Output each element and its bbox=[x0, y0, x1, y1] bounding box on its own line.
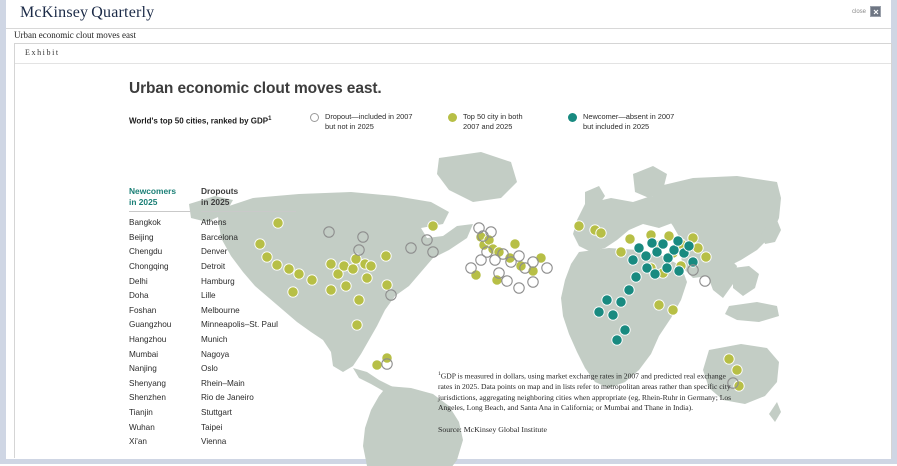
map-dot-top50 bbox=[352, 320, 362, 330]
list-item: Delhi bbox=[129, 275, 201, 290]
map-dot-top50 bbox=[596, 228, 606, 238]
map-dot-newcomer bbox=[628, 255, 638, 265]
map-dot-top50 bbox=[536, 253, 546, 263]
map-dot-top50 bbox=[510, 239, 520, 249]
footnote: 1GDP is measured in dollars, using marke… bbox=[438, 369, 738, 414]
dropout-marker-icon bbox=[310, 113, 319, 122]
map-dot-top50 bbox=[326, 259, 336, 269]
list-item: Taipei bbox=[201, 421, 311, 436]
list-item: Rhein–Main bbox=[201, 377, 311, 392]
list-item: Vienna bbox=[201, 435, 311, 450]
legend-label-newcomer: Newcomer—absent in 2007 but included in … bbox=[583, 112, 674, 131]
map-dot-top50 bbox=[382, 353, 392, 363]
brand-logo[interactable]: McKinseyQuarterly bbox=[20, 4, 154, 22]
exhibit-divider bbox=[15, 63, 891, 64]
map-dot-dropout bbox=[466, 263, 476, 273]
list-item: Denver bbox=[201, 245, 311, 260]
masthead: McKinseyQuarterly close bbox=[6, 0, 891, 29]
list-item: Shenyang bbox=[129, 377, 201, 392]
exhibit-subhead: World's top 50 cities, ranked by GDP1 bbox=[129, 116, 271, 126]
source-line: Source: McKinsey Global Institute bbox=[438, 425, 547, 434]
map-dot-dropout bbox=[474, 223, 484, 233]
map-dot-top50 bbox=[348, 264, 358, 274]
map-dot-dropout bbox=[514, 251, 524, 261]
map-dot-newcomer bbox=[641, 251, 651, 261]
map-dot-top50 bbox=[326, 285, 336, 295]
map-dot-newcomer bbox=[602, 295, 612, 305]
map-dot-top50 bbox=[362, 273, 372, 283]
subhead-text: World's top 50 cities, ranked by GDP bbox=[129, 117, 268, 126]
map-dot-dropout bbox=[514, 283, 524, 293]
list-dropouts: Dropouts in 2025 AthensBarcelonaDenverDe… bbox=[201, 186, 311, 450]
article-title: Urban economic clout moves east bbox=[14, 30, 136, 40]
brand-mckinsey: McKinsey bbox=[20, 4, 88, 21]
close-label: close bbox=[852, 9, 866, 15]
list-item: Oslo bbox=[201, 362, 311, 377]
brand-quarterly: Quarterly bbox=[91, 4, 154, 21]
list-items-dropouts: AthensBarcelonaDenverDetroitHamburgLille… bbox=[201, 216, 311, 450]
list-item: Stuttgart bbox=[201, 406, 311, 421]
list-rule-dropouts bbox=[201, 211, 296, 212]
legend-item-dropout: Dropout—included in 2007 but not in 2025 bbox=[310, 112, 413, 131]
list-item: Hamburg bbox=[201, 275, 311, 290]
legend-item-newcomer: Newcomer—absent in 2007 but included in … bbox=[568, 112, 674, 131]
list-item: Foshan bbox=[129, 304, 201, 319]
map-dot-top50 bbox=[382, 280, 392, 290]
list-item: Guangzhou bbox=[129, 318, 201, 333]
list-item: Athens bbox=[201, 216, 311, 231]
map-dot-dropout bbox=[700, 276, 710, 286]
map-dot-newcomer bbox=[658, 239, 668, 249]
newcomer-marker-icon bbox=[568, 113, 577, 122]
list-item: Detroit bbox=[201, 260, 311, 275]
list-item: Munich bbox=[201, 333, 311, 348]
map-dot-dropout bbox=[502, 276, 512, 286]
list-item: Shenzhen bbox=[129, 391, 201, 406]
list-item: Chengdu bbox=[129, 245, 201, 260]
map-dot-top50 bbox=[381, 251, 391, 261]
map-dot-newcomer bbox=[616, 297, 626, 307]
map-dot-newcomer bbox=[631, 272, 641, 282]
map-dot-newcomer bbox=[594, 307, 604, 317]
map-dot-dropout bbox=[542, 263, 552, 273]
list-newcomers: Newcomers in 2025 BangkokBeijingChengduC… bbox=[129, 186, 201, 450]
map-dot-newcomer bbox=[620, 325, 630, 335]
exhibit-card: Exhibit Urban economic clout moves east.… bbox=[14, 43, 892, 458]
map-dot-newcomer bbox=[662, 263, 672, 273]
map-dot-top50 bbox=[701, 252, 711, 262]
list-item: Tianjin bbox=[129, 406, 201, 421]
window-frame-left bbox=[0, 0, 6, 464]
footnote-text: GDP is measured in dollars, using market… bbox=[438, 372, 731, 413]
close-control[interactable]: close bbox=[852, 6, 881, 17]
map-dot-top50 bbox=[372, 360, 382, 370]
map-dot-top50 bbox=[366, 261, 376, 271]
map-dot-newcomer bbox=[624, 285, 634, 295]
map-dot-top50 bbox=[724, 354, 734, 364]
exhibit-label: Exhibit bbox=[25, 48, 60, 57]
list-item: Wuhan bbox=[129, 421, 201, 436]
list-item: Hangzhou bbox=[129, 333, 201, 348]
list-heading-newcomers: Newcomers in 2025 bbox=[129, 186, 201, 207]
article-title-strip: Urban economic clout moves east bbox=[6, 29, 891, 43]
list-item: Melbourne bbox=[201, 304, 311, 319]
map-dot-top50 bbox=[354, 295, 364, 305]
map-dot-top50 bbox=[625, 234, 635, 244]
map-dot-newcomer bbox=[673, 236, 683, 246]
screenshot-root: McKinseyQuarterly close Urban economic c… bbox=[0, 0, 897, 464]
list-item: Chongqing bbox=[129, 260, 201, 275]
list-item: Doha bbox=[129, 289, 201, 304]
legend-item-top50: Top 50 city in both 2007 and 2025 bbox=[448, 112, 523, 131]
list-items-newcomers: BangkokBeijingChengduChongqingDelhiDohaF… bbox=[129, 216, 201, 450]
map-dot-top50 bbox=[428, 221, 438, 231]
map-dot-top50 bbox=[341, 281, 351, 291]
legend-label-dropout: Dropout—included in 2007 but not in 2025 bbox=[325, 112, 413, 131]
map-dot-top50 bbox=[654, 300, 664, 310]
list-item: Bangkok bbox=[129, 216, 201, 231]
legend-label-top50: Top 50 city in both 2007 and 2025 bbox=[463, 112, 523, 131]
map-dot-newcomer bbox=[612, 335, 622, 345]
list-rule-newcomers bbox=[129, 211, 191, 212]
list-item: Nanjing bbox=[129, 362, 201, 377]
map-dot-newcomer bbox=[608, 310, 618, 320]
subhead-footnote-marker: 1 bbox=[268, 116, 271, 122]
map-dot-dropout bbox=[528, 277, 538, 287]
map-dot-newcomer bbox=[674, 266, 684, 276]
list-item: Mumbai bbox=[129, 348, 201, 363]
map-dot-top50 bbox=[616, 247, 626, 257]
list-heading-dropouts: Dropouts in 2025 bbox=[201, 186, 311, 207]
map-dot-top50 bbox=[471, 270, 481, 280]
map-dot-top50 bbox=[668, 305, 678, 315]
legend: Dropout—included in 2007 but not in 2025… bbox=[310, 112, 730, 138]
list-item: Lille bbox=[201, 289, 311, 304]
map-dot-top50 bbox=[492, 275, 502, 285]
list-item: Nagoya bbox=[201, 348, 311, 363]
list-item: Rio de Janeiro bbox=[201, 391, 311, 406]
list-item: Minneapolis–St. Paul bbox=[201, 318, 311, 333]
map-dot-newcomer bbox=[650, 269, 660, 279]
list-item: Beijing bbox=[129, 231, 201, 246]
list-item: Xi'an bbox=[129, 435, 201, 450]
page-title: Urban economic clout moves east. bbox=[129, 80, 382, 98]
map-dot-dropout bbox=[476, 255, 486, 265]
close-icon[interactable] bbox=[870, 6, 881, 17]
list-item: Barcelona bbox=[201, 231, 311, 246]
map-dot-top50 bbox=[574, 221, 584, 231]
top50-marker-icon bbox=[448, 113, 457, 122]
map-dot-newcomer bbox=[684, 241, 694, 251]
